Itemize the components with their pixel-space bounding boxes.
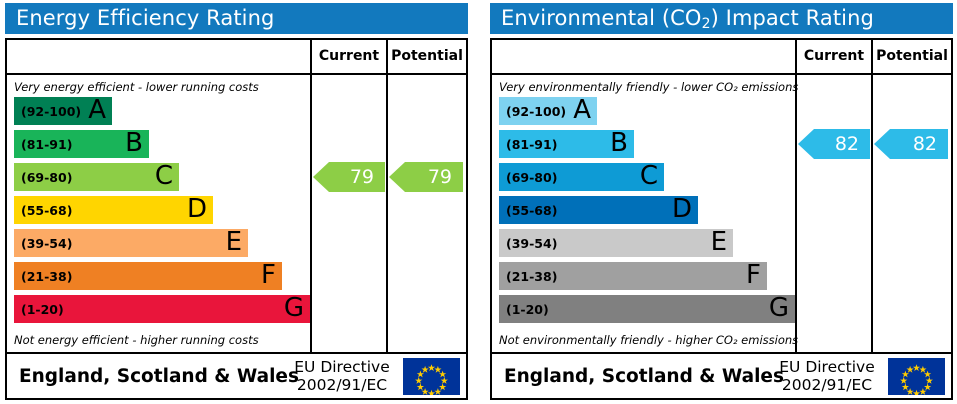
eu-flag-stars [888, 358, 945, 395]
band-c-range: (69-80) [21, 163, 72, 191]
band-row-b: (81-91) B [499, 130, 634, 158]
chart-title-environmental: Environmental (CO2) Impact Rating [490, 3, 953, 34]
band-row-a: (92-100) A [14, 97, 112, 125]
band-b-letter: B [125, 128, 143, 158]
eu-flag-icon [403, 358, 460, 395]
environmental-caption-bottom: Not environmentally friendly - higher CO… [499, 333, 793, 347]
energy-footer-directive: EU Directive 2002/91/EC [286, 358, 398, 394]
band-g-range: (1-20) [506, 295, 549, 323]
environmental-current-rating-arrow: 82 [798, 129, 870, 159]
environmental-potential-rating-value: 82 [913, 133, 937, 155]
band-f-range: (21-38) [506, 262, 557, 290]
band-row-d: (55-68) D [499, 196, 698, 224]
band-row-d: (55-68) D [14, 196, 213, 224]
band-d-letter: D [187, 194, 207, 224]
energy-footer-region: England, Scotland & Wales [19, 354, 299, 398]
environmental-directive-line2: 2002/91/EC [771, 376, 883, 394]
environmental-header-row: Current Potential [492, 40, 951, 75]
band-row-c: (69-80) C [499, 163, 664, 191]
band-f-letter: F [746, 260, 761, 290]
energy-header-potential: Potential [386, 40, 466, 73]
environmental-potential-rating-arrow: 82 [874, 129, 948, 159]
band-e-letter: E [711, 227, 727, 257]
energy-directive-line1: EU Directive [286, 358, 398, 376]
environmental-footer-directive: EU Directive 2002/91/EC [771, 358, 883, 394]
environmental-bands: (92-100) A (81-91) B (69-80) C (55-68) D [499, 97, 795, 327]
band-e-letter: E [226, 227, 242, 257]
energy-chart-frame: Current Potential Very energy efficient … [5, 38, 468, 400]
band-row-f: (21-38) F [499, 262, 767, 290]
band-e-range: (39-54) [506, 229, 557, 257]
band-c-letter: C [155, 161, 173, 191]
energy-efficiency-rating-chart: Energy Efficiency Rating Current Potenti… [0, 0, 472, 404]
band-a-range: (92-100) [506, 97, 566, 125]
eu-flag-icon [888, 358, 945, 395]
environmental-current-rating-value: 82 [835, 133, 859, 155]
energy-potential-rating-value: 79 [428, 166, 452, 188]
band-c-letter: C [640, 161, 658, 191]
band-d-letter: D [672, 194, 692, 224]
environmental-footer: England, Scotland & Wales EU Directive 2… [492, 352, 951, 398]
band-row-b: (81-91) B [14, 130, 149, 158]
environmental-impact-rating-chart: Environmental (CO2) Impact Rating Curren… [485, 0, 957, 404]
chart-title-env-subscript: 2 [702, 16, 711, 32]
band-d-range: (55-68) [21, 196, 72, 224]
chart-title-env-prefix: Environmental (CO [501, 6, 702, 30]
environmental-chart-frame: Current Potential Very environmentally f… [490, 38, 953, 400]
chart-title-energy: Energy Efficiency Rating [5, 3, 468, 34]
environmental-body-area: Very environmentally friendly - lower CO… [492, 75, 951, 352]
band-row-g: (1-20) G [499, 295, 795, 323]
band-g-letter: G [284, 293, 304, 323]
environmental-header-potential: Potential [871, 40, 951, 73]
band-b-range: (81-91) [21, 130, 72, 158]
environmental-directive-line1: EU Directive [771, 358, 883, 376]
band-row-f: (21-38) F [14, 262, 282, 290]
band-b-range: (81-91) [506, 130, 557, 158]
band-b-letter: B [610, 128, 628, 158]
chart-title-env-suffix: ) Impact Rating [711, 6, 874, 30]
environmental-caption-top: Very environmentally friendly - lower CO… [499, 80, 793, 94]
band-row-g: (1-20) G [14, 295, 310, 323]
band-row-e: (39-54) E [499, 229, 733, 257]
energy-header-current: Current [310, 40, 386, 73]
energy-current-rating-value: 79 [350, 166, 374, 188]
energy-body-area: Very energy efficient - lower running co… [7, 75, 466, 352]
energy-bands: (92-100) A (81-91) B (69-80) C (55-68) D [14, 97, 310, 327]
band-row-a: (92-100) A [499, 97, 597, 125]
environmental-header-current: Current [795, 40, 871, 73]
energy-caption-top: Very energy efficient - lower running co… [14, 80, 308, 94]
energy-caption-bottom: Not energy efficient - higher running co… [14, 333, 308, 347]
band-row-e: (39-54) E [14, 229, 248, 257]
band-f-range: (21-38) [21, 262, 72, 290]
band-e-range: (39-54) [21, 229, 72, 257]
epc-charts-page: Energy Efficiency Rating Current Potenti… [0, 0, 957, 404]
band-a-letter: A [573, 95, 591, 125]
band-d-range: (55-68) [506, 196, 557, 224]
energy-potential-rating-arrow: 79 [389, 162, 463, 192]
energy-directive-line2: 2002/91/EC [286, 376, 398, 394]
band-a-range: (92-100) [21, 97, 81, 125]
band-g-letter: G [769, 293, 789, 323]
environmental-footer-region: England, Scotland & Wales [504, 354, 784, 398]
chart-title-energy-text: Energy Efficiency Rating [16, 6, 274, 30]
energy-current-rating-arrow: 79 [313, 162, 385, 192]
band-f-letter: F [261, 260, 276, 290]
band-g-range: (1-20) [21, 295, 64, 323]
band-c-range: (69-80) [506, 163, 557, 191]
energy-footer: England, Scotland & Wales EU Directive 2… [7, 352, 466, 398]
eu-flag-stars [403, 358, 460, 395]
band-a-letter: A [88, 95, 106, 125]
band-row-c: (69-80) C [14, 163, 179, 191]
energy-header-row: Current Potential [7, 40, 466, 75]
